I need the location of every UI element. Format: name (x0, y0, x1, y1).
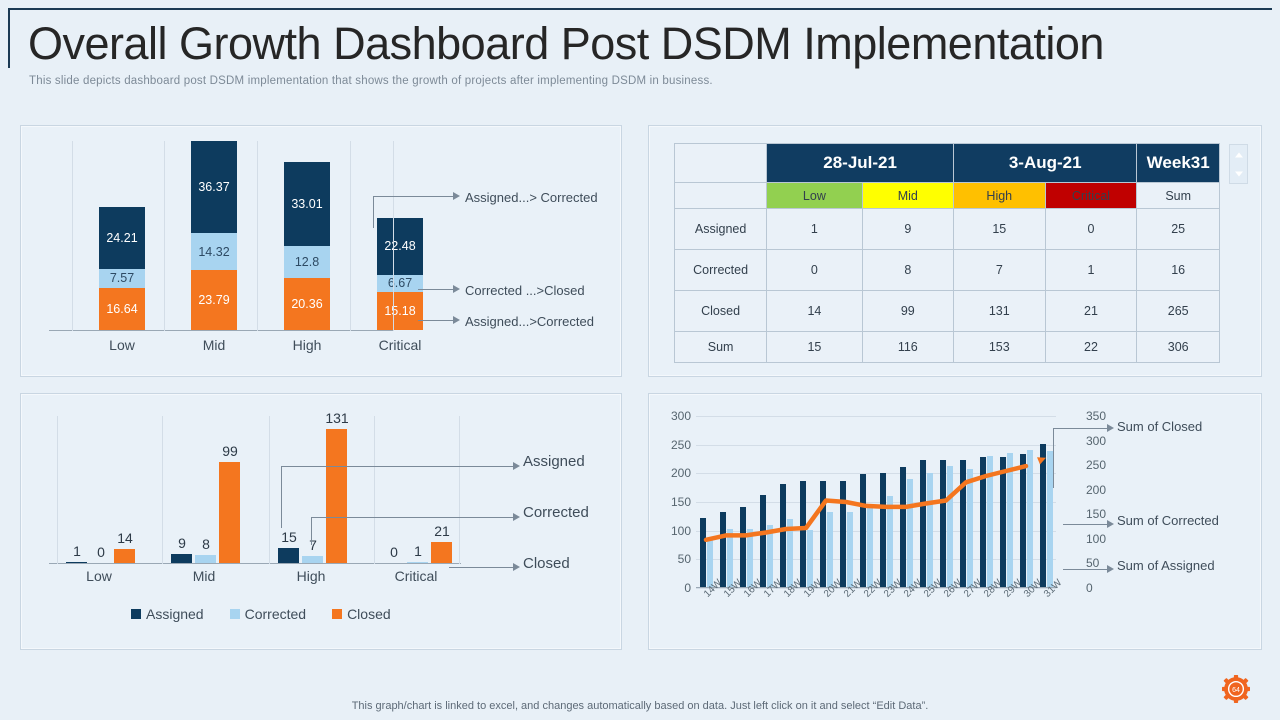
stacked-bar-segment-value: 23.79 (191, 270, 237, 330)
stacked-bar-segment-value: 33.01 (284, 162, 330, 246)
grouped-callout-label-assigned: Assigned (523, 453, 585, 470)
summary-table-panel: 28-Jul-21 3-Aug-21 Week31 Low Mid High C… (648, 125, 1262, 377)
table-cell: 99 (862, 291, 953, 332)
stacked-bar-segment-value: 6.67 (377, 275, 423, 292)
table-cell: 116 (862, 332, 953, 363)
stacked-bar-segment-value: 7.57 (99, 269, 145, 288)
secondary-y-axis-tick-label: 200 (1086, 483, 1112, 497)
x-axis-label: Mid (191, 337, 237, 353)
stacked-bar-plot: 24.217.5716.64Low36.3714.3223.79Mid33.01… (49, 141, 394, 331)
legend-label: Closed (347, 606, 391, 622)
combo-callout-connector-3 (1063, 569, 1107, 570)
table-header-severity: Low Mid High Critical Sum (675, 183, 1220, 209)
y-axis-tick-label: 150 (663, 495, 691, 509)
summary-table: 28-Jul-21 3-Aug-21 Week31 Low Mid High C… (674, 143, 1220, 363)
spinner-up-button[interactable] (1230, 145, 1247, 164)
grouped-bar[interactable] (171, 554, 192, 563)
table-header-dates: 28-Jul-21 3-Aug-21 Week31 (675, 144, 1220, 183)
table-cell: 265 (1137, 291, 1220, 332)
page-number-badge: 64 (1222, 675, 1250, 703)
x-axis-label: Critical (381, 568, 451, 584)
grouped-bar[interactable] (114, 549, 135, 563)
grouped-callout-connector-3 (449, 567, 513, 568)
frame-left-border (8, 8, 10, 68)
page-title: Overall Growth Dashboard Post DSDM Imple… (28, 18, 1228, 70)
header-severity-high: High (954, 183, 1046, 209)
stacked-bar-segment-value: 12.8 (284, 246, 330, 278)
x-axis-label: Mid (169, 568, 239, 584)
callout-connector-1b (373, 196, 453, 197)
grouped-callout-connector-1 (281, 466, 282, 528)
stacked-bar-segment-value: 36.37 (191, 141, 237, 233)
table-cell: 0 (1045, 209, 1137, 250)
combo-callout-connector-1 (1053, 428, 1054, 488)
x-axis-label: High (284, 337, 330, 353)
secondary-y-axis-tick-label: 350 (1086, 409, 1112, 423)
stacked-bar-panel: 24.217.5716.64Low36.3714.3223.79Mid33.01… (20, 125, 622, 377)
grouped-bar[interactable] (326, 429, 347, 563)
header-week: Week31 (1137, 144, 1220, 183)
stacked-bar-column[interactable]: 22.486.6715.18 (377, 218, 423, 330)
combo-chart-panel: 0501001502002503000501001502002503003501… (648, 393, 1262, 650)
secondary-y-axis-tick-label: 250 (1086, 458, 1112, 472)
header-date-1: 3-Aug-21 (954, 144, 1137, 183)
bar-value-label: 21 (425, 523, 459, 539)
table-cell: 14 (767, 291, 862, 332)
spinner-down-button[interactable] (1230, 164, 1247, 183)
callout-connector-1 (373, 196, 374, 228)
x-axis-label: High (276, 568, 346, 584)
combo-callout-arrow-3 (1107, 565, 1114, 573)
grouped-bar[interactable] (219, 462, 240, 563)
table-cell: 8 (862, 250, 953, 291)
bar-value-label: 99 (213, 443, 247, 459)
page-subtitle: This slide depicts dashboard post DSDM i… (29, 75, 1129, 87)
combo-callout-label-corrected: Sum of Corrected (1117, 513, 1219, 528)
grouped-callout-arrow-2 (513, 513, 520, 521)
stacked-bar-segment-value: 22.48 (377, 218, 423, 275)
stacked-bar-column[interactable]: 36.3714.3223.79 (191, 141, 237, 330)
y-axis-tick-label: 0 (663, 581, 691, 595)
combo-callout-connector-1b (1053, 428, 1107, 429)
stacked-bar-segment-value: 24.21 (99, 207, 145, 268)
stacked-bar-segment-value: 15.18 (377, 292, 423, 330)
y-axis-tick-label: 100 (663, 524, 691, 538)
corner-cell (675, 144, 767, 183)
combo-callout-label-assigned: Sum of Assigned (1117, 558, 1215, 573)
callout-connector-2 (418, 289, 453, 290)
y-axis-tick-label: 200 (663, 466, 691, 480)
grouped-callout-connector-2b (311, 517, 513, 518)
header-date-0: 28-Jul-21 (767, 144, 954, 183)
grouped-bar[interactable] (66, 562, 87, 563)
gridline (72, 141, 73, 331)
callout-arrow-2 (453, 285, 460, 293)
spinner-down-icon (1235, 171, 1243, 176)
gridline (350, 141, 351, 331)
table-cell: 306 (1137, 332, 1220, 363)
legend-label: Corrected (245, 606, 306, 622)
gridline (374, 416, 375, 564)
slide: Overall Growth Dashboard Post DSDM Imple… (0, 0, 1280, 720)
combo-callout-arrow-1 (1107, 424, 1114, 432)
bar-value-label: 7 (296, 537, 330, 553)
x-axis-line (49, 330, 394, 331)
table-row: Assigned1915025 (675, 209, 1220, 250)
bar-value-label: 14 (108, 530, 142, 546)
table-cell: 1 (767, 209, 862, 250)
stacked-bar-segment-value: 14.32 (191, 233, 237, 269)
legend-item[interactable]: Corrected (230, 606, 306, 622)
gridline (162, 416, 163, 564)
frame-top-border (8, 8, 1272, 10)
bar-value-label: 8 (189, 536, 223, 552)
grouped-callout-arrow-3 (513, 563, 520, 571)
bar-value-label: 0 (84, 544, 118, 560)
table-cell: 25 (1137, 209, 1220, 250)
header-severity-mid: Mid (862, 183, 953, 209)
grouped-bar-legend: AssignedCorrectedClosed (131, 606, 391, 622)
table-row: Closed149913121265 (675, 291, 1220, 332)
x-axis-label: Low (64, 568, 134, 584)
callout-arrow-1 (453, 192, 460, 200)
legend-swatch-icon (332, 609, 342, 619)
combo-callout-arrow-2 (1107, 520, 1114, 528)
table-row-label: Closed (675, 291, 767, 332)
bar-value-label: 131 (320, 410, 354, 426)
grouped-callout-connector-2 (311, 517, 312, 545)
svg-text:64: 64 (1232, 687, 1240, 694)
gridline (257, 141, 258, 331)
stacked-bar-segment-value: 20.36 (284, 278, 330, 330)
gridline (393, 141, 394, 331)
combo-callout-label-closed: Sum of Closed (1117, 419, 1202, 434)
table-row: Corrected087116 (675, 250, 1220, 291)
table-row-label: Assigned (675, 209, 767, 250)
legend-label: Assigned (146, 606, 204, 622)
grouped-bar[interactable] (302, 556, 323, 563)
gridline (57, 416, 58, 564)
table-cell: 21 (1045, 291, 1137, 332)
x-axis-line (49, 563, 461, 564)
grouped-bar[interactable] (431, 542, 452, 563)
combo-chart-plot: 0501001502002503000501001502002503003501… (696, 416, 1056, 588)
legend-swatch-icon (131, 609, 141, 619)
gridline (459, 416, 460, 564)
table-cell: 16 (1137, 250, 1220, 291)
table-cell: 15 (767, 332, 862, 363)
grouped-callout-arrow-1 (513, 462, 520, 470)
grouped-bar[interactable] (195, 555, 216, 563)
x-axis-label: Low (99, 337, 145, 353)
table-cell: 7 (954, 250, 1046, 291)
header-severity-critical: Critical (1045, 183, 1137, 209)
grouped-bar[interactable] (407, 562, 428, 563)
legend-swatch-icon (230, 609, 240, 619)
callout-label-assigned-corrected-bottom: Assigned...>Corrected (465, 314, 594, 329)
legend-item[interactable]: Assigned (131, 606, 204, 622)
gridline (164, 141, 165, 331)
y-axis-tick-label: 300 (663, 409, 691, 423)
table-cell: 22 (1045, 332, 1137, 363)
callout-connector-3 (418, 320, 453, 321)
grouped-callout-connector-1b (281, 466, 513, 467)
y-axis-tick-label: 50 (663, 552, 691, 566)
severity-corner-cell (675, 183, 767, 209)
stacked-bar-column[interactable]: 33.0112.820.36 (284, 162, 330, 330)
table-cell: 131 (954, 291, 1046, 332)
table-cell: 0 (767, 250, 862, 291)
header-severity-sum: Sum (1137, 183, 1220, 209)
callout-arrow-3 (453, 316, 460, 324)
grouped-callout-label-corrected: Corrected (523, 504, 589, 521)
secondary-y-axis-tick-label: 300 (1086, 434, 1112, 448)
secondary-y-axis-tick-label: 100 (1086, 532, 1112, 546)
footer-note: This graph/chart is linked to excel, and… (0, 700, 1280, 712)
callout-label-corrected-closed: Corrected ...>Closed (465, 283, 585, 298)
x-axis-label: Critical (377, 337, 423, 353)
stacked-bar-segment-value: 16.64 (99, 288, 145, 330)
combo-callout-connector-2 (1063, 524, 1107, 525)
grouped-bar-plot: 1014Low9899Mid157131High0121Critical (49, 416, 461, 564)
table-cell: 15 (954, 209, 1046, 250)
bar-value-label: 1 (401, 543, 435, 559)
table-cell: 153 (954, 332, 1046, 363)
table-spinner[interactable] (1229, 144, 1248, 184)
header-severity-low: Low (767, 183, 862, 209)
legend-item[interactable]: Closed (332, 606, 391, 622)
y-axis-tick-label: 250 (663, 438, 691, 452)
callout-label-assigned-corrected-top: Assigned...> Corrected (465, 190, 598, 205)
table-row-label: Sum (675, 332, 767, 363)
gridline (269, 416, 270, 564)
grouped-bar-panel: 1014Low9899Mid157131High0121Critical Ass… (20, 393, 622, 650)
table-row: Sum1511615322306 (675, 332, 1220, 363)
table-cell: 9 (862, 209, 953, 250)
grouped-callout-label-closed: Closed (523, 555, 570, 572)
table-cell: 1 (1045, 250, 1137, 291)
secondary-y-axis-tick-label: 0 (1086, 581, 1112, 595)
spinner-up-icon (1235, 152, 1243, 157)
closed-trend-line (696, 416, 1056, 588)
table-row-label: Corrected (675, 250, 767, 291)
stacked-bar-column[interactable]: 24.217.5716.64 (99, 207, 145, 330)
